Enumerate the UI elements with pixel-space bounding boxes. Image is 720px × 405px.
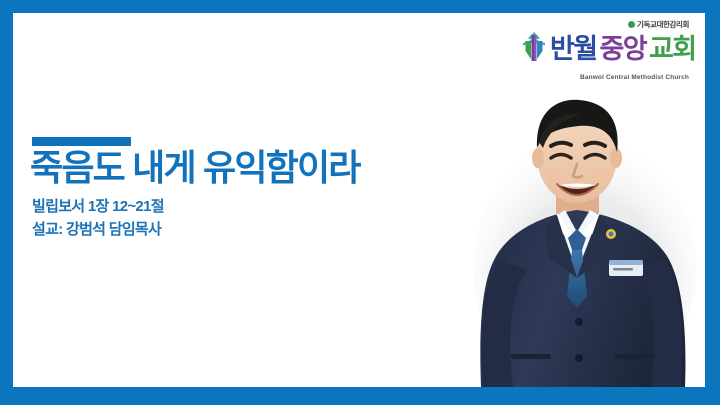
headline-block: 죽음도 내게 유익함이라 빌립보서 1장 12~21절 설교: 강범석 담임목사: [30, 137, 450, 242]
sermon-title-slide: 기독교대한감리회 반월 중앙 교회 Banwol Cent: [0, 0, 720, 405]
frame-border-top: [0, 0, 720, 13]
church-name-lockup: 반월 중앙 교회: [521, 31, 695, 63]
denomination-mark-icon: [628, 21, 635, 28]
church-name-part-3: 교회: [649, 36, 695, 63]
sermon-title: 죽음도 내게 유익함이라: [30, 149, 450, 187]
denomination-label: 기독교대한감리회: [637, 21, 689, 29]
church-name-part-1: 반월: [550, 36, 596, 63]
church-english-name: Banwol Central Methodist Church: [580, 74, 689, 81]
cross-icon: [521, 30, 547, 62]
denomination-line: 기독교대한감리회: [628, 21, 689, 29]
preacher-label: 설교: 강범석 담임목사: [32, 219, 450, 242]
slide-stage: 기독교대한감리회 반월 중앙 교회 Banwol Cent: [13, 13, 705, 387]
frame-border-bottom: [0, 387, 720, 405]
church-name-part-2: 중앙: [599, 36, 645, 63]
church-logo: 기독교대한감리회 반월 중앙 교회 Banwol Cent: [519, 19, 697, 81]
frame-border-left: [0, 0, 13, 405]
accent-rule: [32, 137, 131, 146]
frame-border-right: [705, 0, 720, 405]
speaker-portrait: [453, 82, 705, 387]
scripture-reference: 빌립보서 1장 12~21절: [32, 196, 450, 219]
